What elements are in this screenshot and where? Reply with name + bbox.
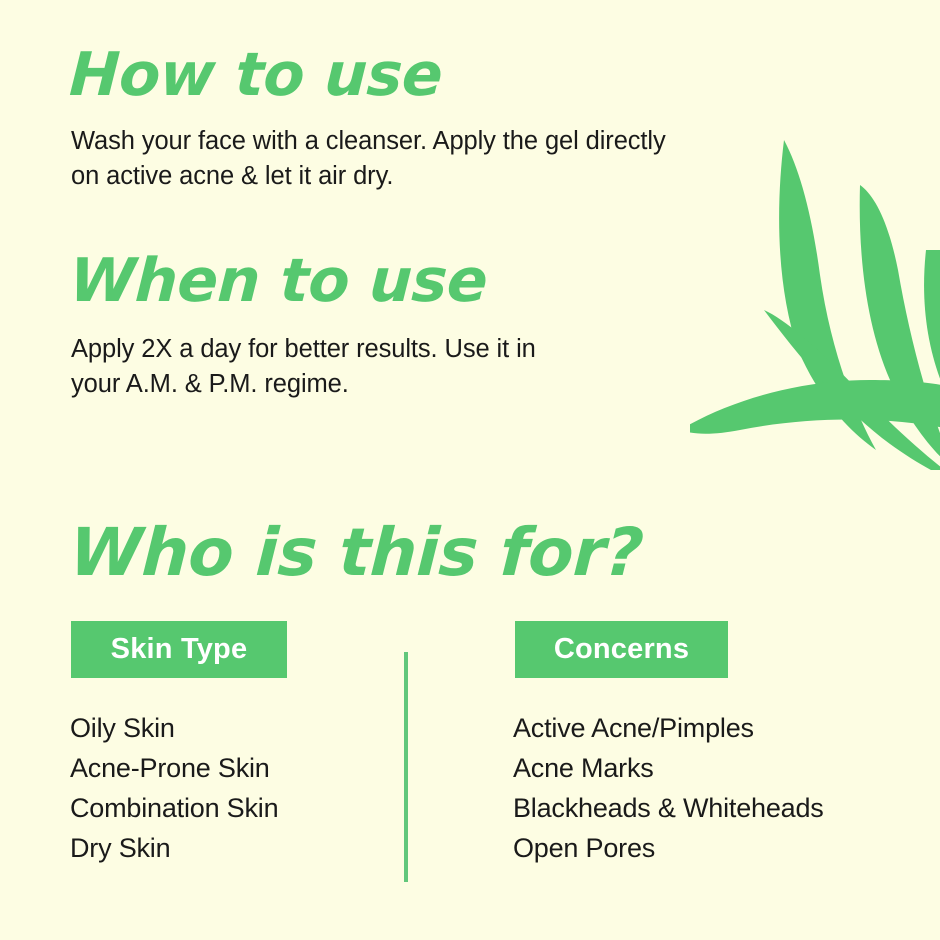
heading-how-to-use: How to use (68, 44, 444, 106)
list-item: Dry Skin (70, 828, 278, 868)
heading-who-is-this-for: Who is this for? (68, 519, 645, 587)
list-item: Acne Marks (513, 748, 824, 788)
badge-concerns: Concerns (515, 621, 728, 678)
leaf-plant-icon (690, 140, 940, 470)
column-divider (404, 652, 408, 882)
list-concerns: Active Acne/PimplesAcne MarksBlackheads … (513, 708, 824, 868)
list-item: Active Acne/Pimples (513, 708, 824, 748)
list-item: Open Pores (513, 828, 824, 868)
body-how-to-use: Wash your face with a cleanser. Apply th… (71, 124, 666, 194)
list-item: Acne-Prone Skin (70, 748, 278, 788)
list-skin-type: Oily SkinAcne-Prone SkinCombination Skin… (70, 708, 278, 868)
body-when-to-use: Apply 2X a day for better results. Use i… (71, 332, 536, 402)
list-item: Oily Skin (70, 708, 278, 748)
list-item: Blackheads & Whiteheads (513, 788, 824, 828)
heading-when-to-use: When to use (68, 250, 489, 312)
product-info-card: How to use Wash your face with a cleanse… (0, 0, 940, 940)
list-item: Combination Skin (70, 788, 278, 828)
badge-skin-type: Skin Type (71, 621, 287, 678)
